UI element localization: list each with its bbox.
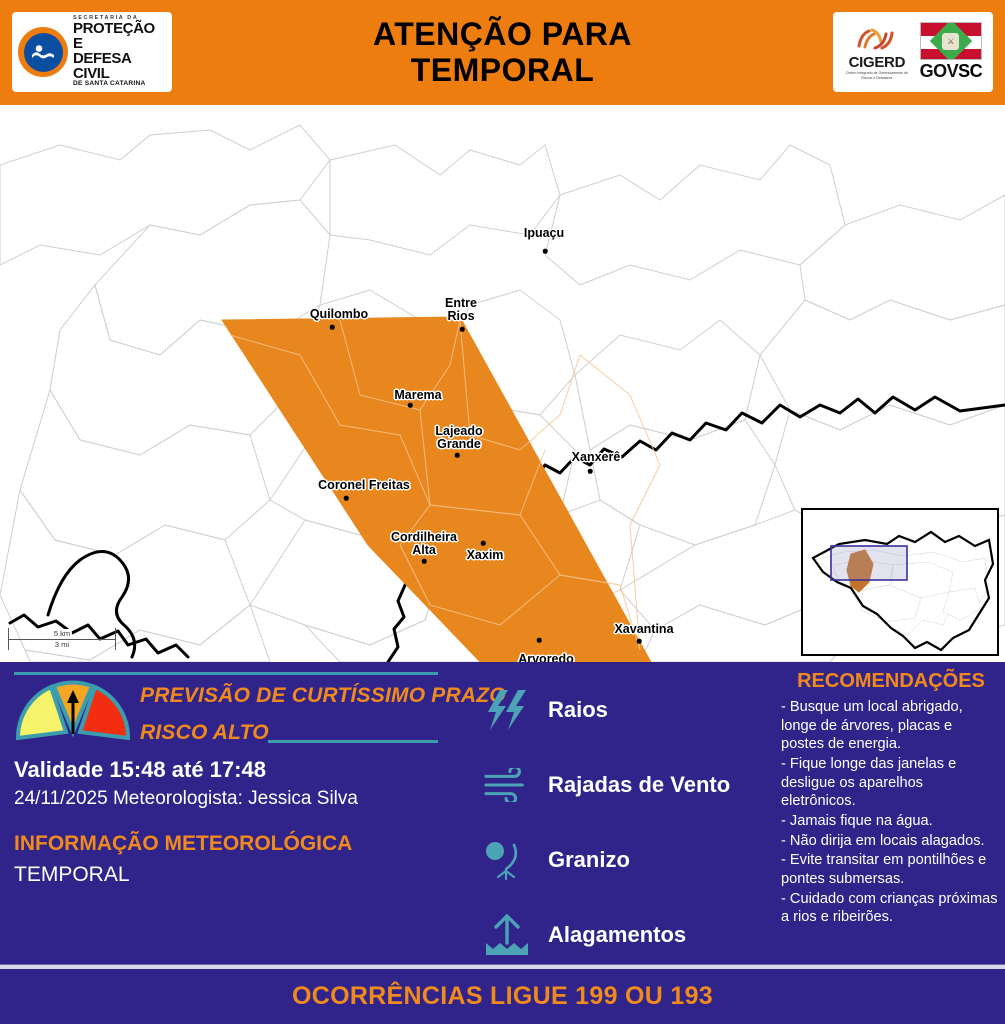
inset-viewport-rectangle (831, 546, 907, 580)
recommendations-title: RECOMENDAÇÕES (780, 670, 1002, 693)
logo-line-protecao: PROTEÇÃO E (73, 21, 166, 51)
title-line-2: TEMPORAL (411, 53, 595, 89)
flood-icon (484, 913, 530, 957)
cigerd-subtitle: Centro Integrado de Gerenciamento de Ris… (844, 71, 910, 80)
city-label: Xaxim (467, 549, 504, 562)
risk-gauge-icon (14, 680, 132, 742)
header-bar: SECRETARIA DA PROTEÇÃO E DEFESA CIVIL DE… (0, 0, 1005, 105)
risk-gauge (14, 680, 132, 742)
scale-bar: 5 km 3 mi (8, 628, 116, 650)
inset-locator-map (801, 508, 999, 656)
inset-state-outline (803, 510, 997, 654)
city-label: Arvoredo (518, 653, 574, 662)
partner-logos: CIGERD Centro Integrado de Gerenciamento… (833, 12, 993, 92)
city-dot (588, 469, 593, 474)
lightning-icon (484, 688, 530, 732)
recommendation-item: - Cuidado com crianças próximas a rios e… (781, 890, 999, 927)
logo-line-defesa: DEFESA CIVIL (73, 51, 166, 81)
cigerd-logo: CIGERD Centro Integrado de Gerenciamento… (844, 24, 910, 80)
cigerd-name: CIGERD (849, 54, 906, 71)
emergency-phone-text: OCORRÊNCIAS LIGUE 199 OU 193 (292, 982, 713, 1011)
recommendation-item: - Evite transitar em pontilhões e pontes… (781, 851, 999, 888)
divider-risk (268, 740, 438, 743)
city-dot (637, 639, 642, 644)
city-dot (422, 559, 427, 564)
recommendation-item: - Não dirija em locais alagados. (781, 832, 999, 851)
hail-icon (484, 839, 530, 881)
city-label: Coronel Freitas (318, 479, 410, 492)
recommendations-list: - Busque um local abrigado, longe de árv… (781, 698, 999, 928)
city-label: Ipuaçu (524, 227, 564, 240)
recommendation-item: - Fique longe das janelas e desligue os … (781, 755, 999, 811)
defesa-civil-seal-icon (18, 27, 68, 77)
hazard-list: Raios Rajadas de Vento (484, 672, 764, 972)
hazard-item-alagamentos: Alagamentos (484, 897, 764, 972)
govsc-sc: SC (958, 61, 982, 81)
meteorologist-text: 24/11/2025 Meteorologista: Jessica Silva (14, 788, 358, 810)
title-line-1: ATENÇÃO PARA (373, 17, 632, 53)
city-label: Entre Rios (445, 297, 477, 323)
santa-catarina-flag-icon: ⚔ (920, 22, 982, 60)
scale-km-label: 5 km (52, 629, 72, 638)
city-label: Xavantina (614, 623, 673, 636)
city-dot (481, 541, 486, 546)
risk-level-label: RISCO ALTO (140, 721, 269, 745)
hazard-label: Alagamentos (548, 922, 686, 948)
alert-map[interactable]: Ipuaçu Quilombo Entre Rios Marema Lajead… (0, 105, 1005, 662)
alert-area-polygon (222, 317, 668, 662)
recommendation-item: - Busque um local abrigado, longe de árv… (781, 698, 999, 754)
city-dot (455, 453, 460, 458)
city-label: Lajeado Grande (435, 425, 482, 451)
hazard-item-granizo: Granizo (484, 822, 764, 897)
city-label: Quilombo (310, 308, 368, 321)
city-label: Cordilheira Alta (391, 531, 457, 557)
city-dot (543, 249, 548, 254)
meteo-info-title: INFORMAÇÃO METEOROLÓGICA (14, 832, 352, 856)
hazard-label: Raios (548, 697, 608, 723)
logo-line-estado: DE SANTA CATARINA (73, 81, 166, 88)
city-label: Marema (394, 389, 441, 402)
civil-defense-triangle-icon (30, 43, 56, 61)
alert-poster: SECRETARIA DA PROTEÇÃO E DEFESA CIVIL DE… (0, 0, 1005, 1024)
city-dot (408, 403, 413, 408)
hazard-item-rajadas: Rajadas de Vento (484, 747, 764, 822)
city-label: Xanxerê (572, 451, 621, 464)
meteo-info-value: TEMPORAL (14, 863, 130, 887)
forecast-title: PREVISÃO DE CURTÍSSIMO PRAZO (140, 684, 506, 708)
hazard-label: Granizo (548, 847, 630, 873)
recommendation-item: - Jamais fique na água. (781, 812, 999, 831)
city-dot (344, 496, 349, 501)
cigerd-waves-icon (853, 24, 901, 54)
hazard-label: Rajadas de Vento (548, 772, 730, 798)
wind-icon (484, 768, 530, 802)
hazard-item-raios: Raios (484, 672, 764, 747)
city-dot (460, 327, 465, 332)
scale-mi-label: 3 mi (53, 640, 71, 649)
govsc-wordmark: GOVSC (920, 61, 983, 82)
govsc-gov: GOV (920, 61, 959, 81)
footer-bar: OCORRÊNCIAS LIGUE 199 OU 193 (0, 969, 1005, 1024)
validity-text: Validade 15:48 até 17:48 (14, 757, 266, 783)
divider-top (14, 672, 438, 675)
defesa-civil-logo: SECRETARIA DA PROTEÇÃO E DEFESA CIVIL DE… (12, 12, 172, 92)
city-dot (330, 325, 335, 330)
city-dot (537, 638, 542, 643)
govsc-logo: ⚔ GOVSC (920, 22, 983, 82)
